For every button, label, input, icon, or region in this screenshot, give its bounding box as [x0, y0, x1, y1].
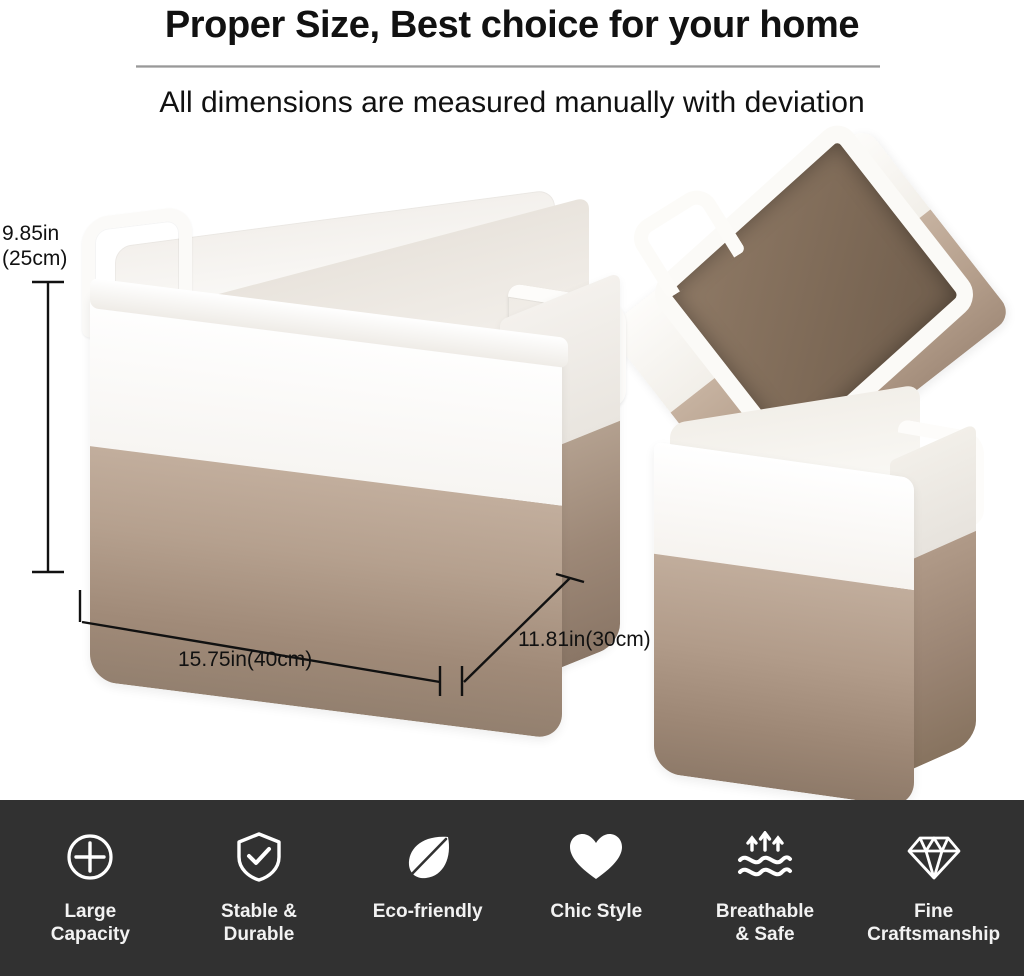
feature-bar: Large Capacity Stable & Durable Eco-frie… — [0, 800, 1024, 976]
diamond-icon — [907, 826, 961, 888]
basket-secondary-tan-band — [654, 554, 914, 808]
feature-large-capacity: Large Capacity — [15, 826, 165, 946]
feature-label: Fine Craftsmanship — [867, 900, 1000, 946]
product-stage — [0, 140, 1024, 800]
plus-circle-icon — [65, 826, 115, 888]
breathable-waves-icon — [736, 826, 794, 888]
feature-label: Large Capacity — [51, 900, 130, 946]
feature-breathable-safe: Breathable & Safe — [690, 826, 840, 946]
feature-fine-craftsmanship: Fine Craftsmanship — [859, 826, 1009, 946]
feature-label: Eco-friendly — [373, 900, 483, 923]
feature-stable-durable: Stable & Durable — [184, 826, 334, 946]
basket-secondary-front-face — [654, 442, 914, 809]
basket-secondary — [640, 400, 980, 800]
feature-label: Breathable & Safe — [716, 900, 814, 946]
dimension-depth-label: 11.81in(30cm) — [518, 628, 651, 653]
leaf-icon — [402, 826, 454, 888]
feature-label: Chic Style — [550, 900, 642, 923]
shield-check-icon — [235, 826, 283, 888]
dimension-height-label: 9.85in (25cm) — [2, 222, 67, 272]
heart-icon — [568, 826, 624, 888]
product-infographic: Proper Size, Best choice for your home A… — [0, 0, 1024, 976]
page-title: Proper Size, Best choice for your home — [0, 4, 1024, 47]
feature-chic-style: Chic Style — [521, 826, 671, 923]
feature-label: Stable & Durable — [221, 900, 297, 946]
header-divider — [136, 65, 880, 68]
dimension-width-label: 15.75in(40cm) — [178, 648, 312, 673]
feature-eco-friendly: Eco-friendly — [353, 826, 503, 923]
